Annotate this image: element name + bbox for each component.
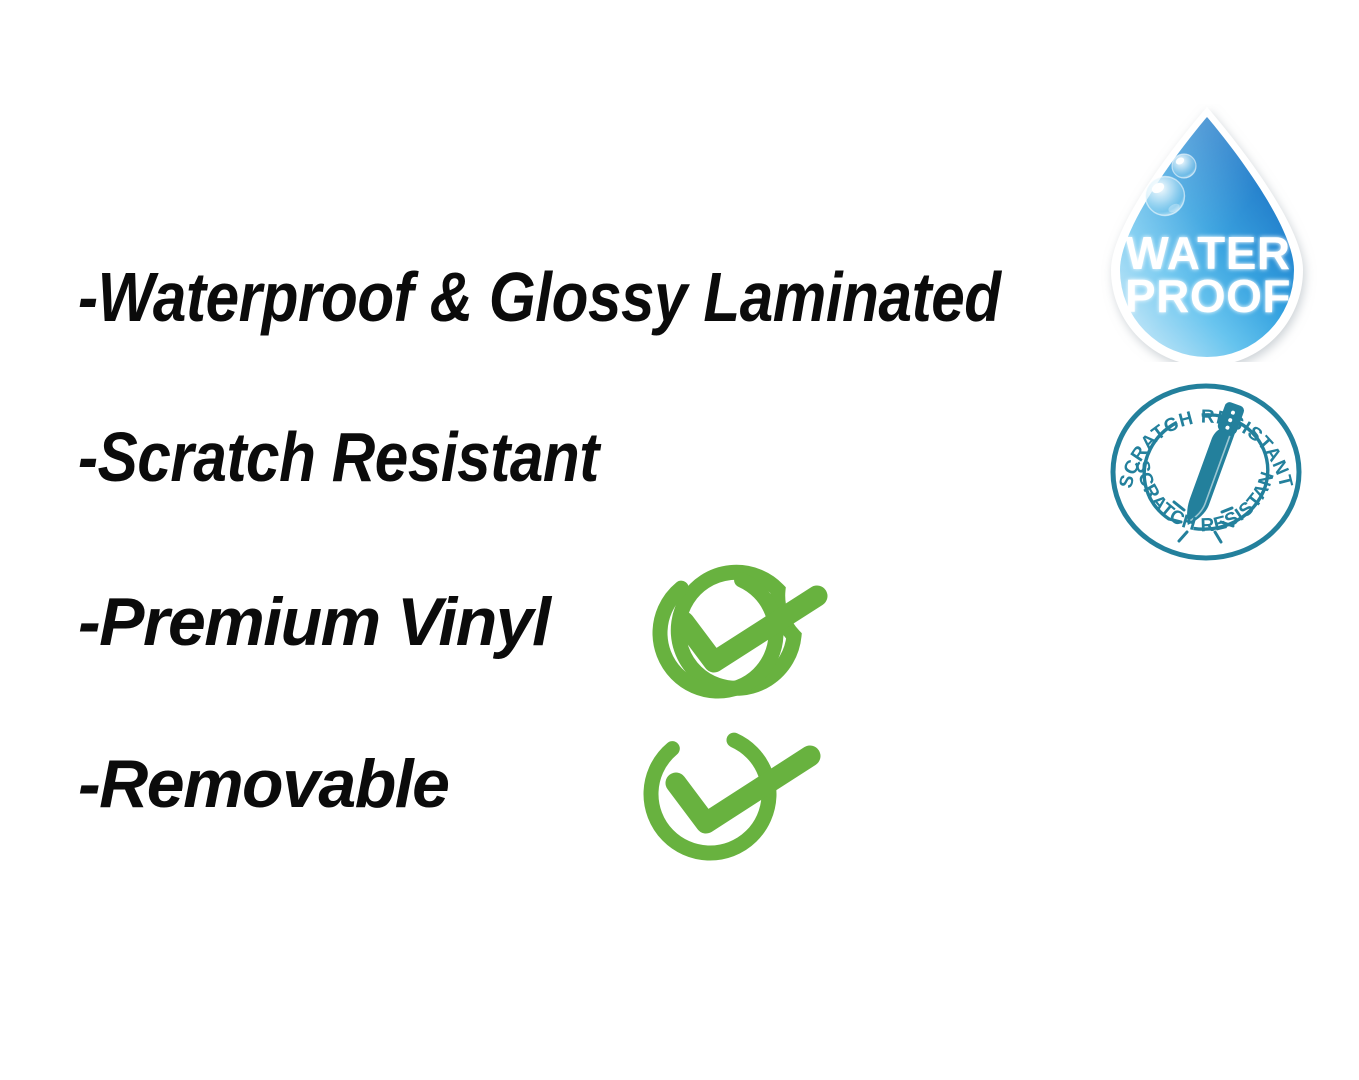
green-check-icon bbox=[630, 716, 835, 871]
feature-item-premium-vinyl: -Premium Vinyl bbox=[78, 588, 550, 656]
green-check-icon bbox=[640, 558, 845, 708]
scratch-resistant-badge: SCRATCH RESISTANT SCRATCH RESISTANT bbox=[1108, 382, 1304, 562]
bubble-large bbox=[1146, 177, 1185, 216]
product-feature-graphic: -Waterproof & Glossy Laminated -Scratch … bbox=[0, 0, 1359, 1080]
bubble-small bbox=[1172, 154, 1196, 178]
waterproof-line2: PROOF bbox=[1125, 270, 1291, 322]
waterproof-badge: WATER PROOF bbox=[1098, 104, 1320, 362]
feature-item-scratch-resistant: -Scratch Resistant bbox=[78, 422, 599, 492]
feature-item-removable: -Removable bbox=[78, 750, 448, 818]
feature-item-waterproof-glossy-laminated: -Waterproof & Glossy Laminated bbox=[78, 262, 1001, 332]
